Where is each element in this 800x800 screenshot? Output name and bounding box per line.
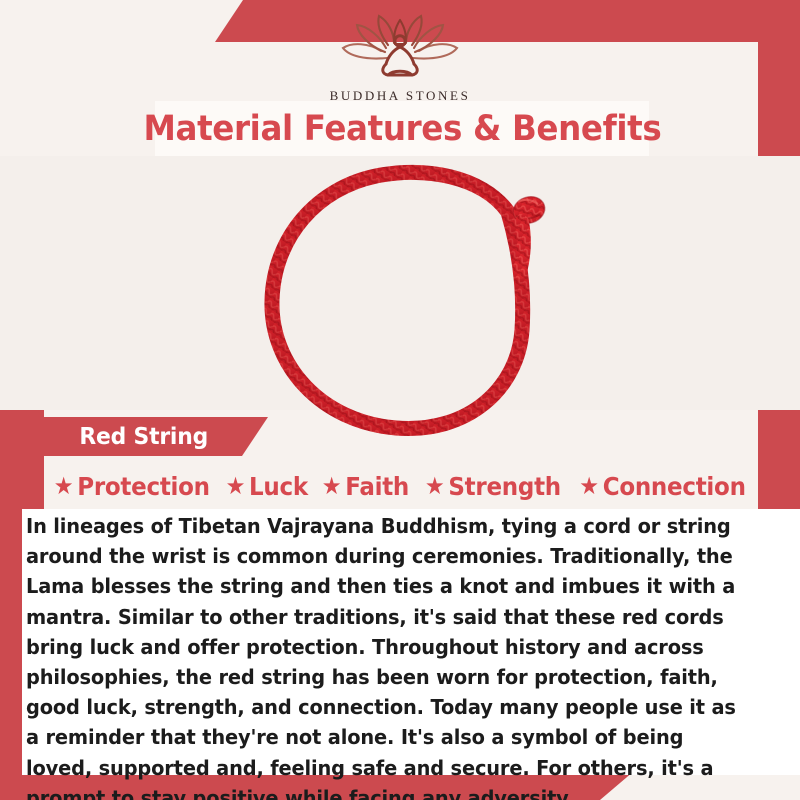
brand-name: BUDDHA STONES (330, 88, 471, 104)
infographic-page: BUDDHA STONES Material Features & Benefi… (0, 0, 800, 800)
feature-label: Luck (249, 472, 308, 501)
feature-label: Connection (603, 472, 746, 501)
ribbon-label: Red String (79, 424, 208, 450)
feature-strength: ★ Strength (424, 472, 560, 501)
lotus-meditation-icon (325, 14, 475, 86)
star-icon: ★ (424, 474, 444, 498)
title-banner: Material Features & Benefits (155, 101, 649, 156)
page-title: Material Features & Benefits (143, 109, 661, 149)
star-icon: ★ (53, 474, 73, 498)
feature-label: Strength (448, 472, 561, 501)
feature-protection: ★ Protection (53, 472, 209, 501)
red-string-ribbon: Red String (44, 417, 268, 456)
feature-luck: ★ Luck (226, 472, 308, 501)
star-icon: ★ (322, 474, 342, 498)
description-text: In lineages of Tibetan Vajrayana Buddhis… (26, 511, 742, 800)
star-icon: ★ (580, 474, 600, 498)
feature-faith: ★ Faith (322, 472, 409, 501)
description-panel: In lineages of Tibetan Vajrayana Buddhis… (22, 509, 800, 775)
feature-label: Protection (77, 472, 210, 501)
brand-logo: BUDDHA STONES (0, 14, 800, 104)
feature-label: Faith (345, 472, 409, 501)
feature-connection: ★ Connection (580, 472, 746, 501)
red-braided-cord-bracelet (246, 160, 576, 442)
star-icon: ★ (226, 474, 246, 498)
features-list: ★ Protection ★ Luck ★ Faith ★ Strength ★… (44, 464, 756, 508)
